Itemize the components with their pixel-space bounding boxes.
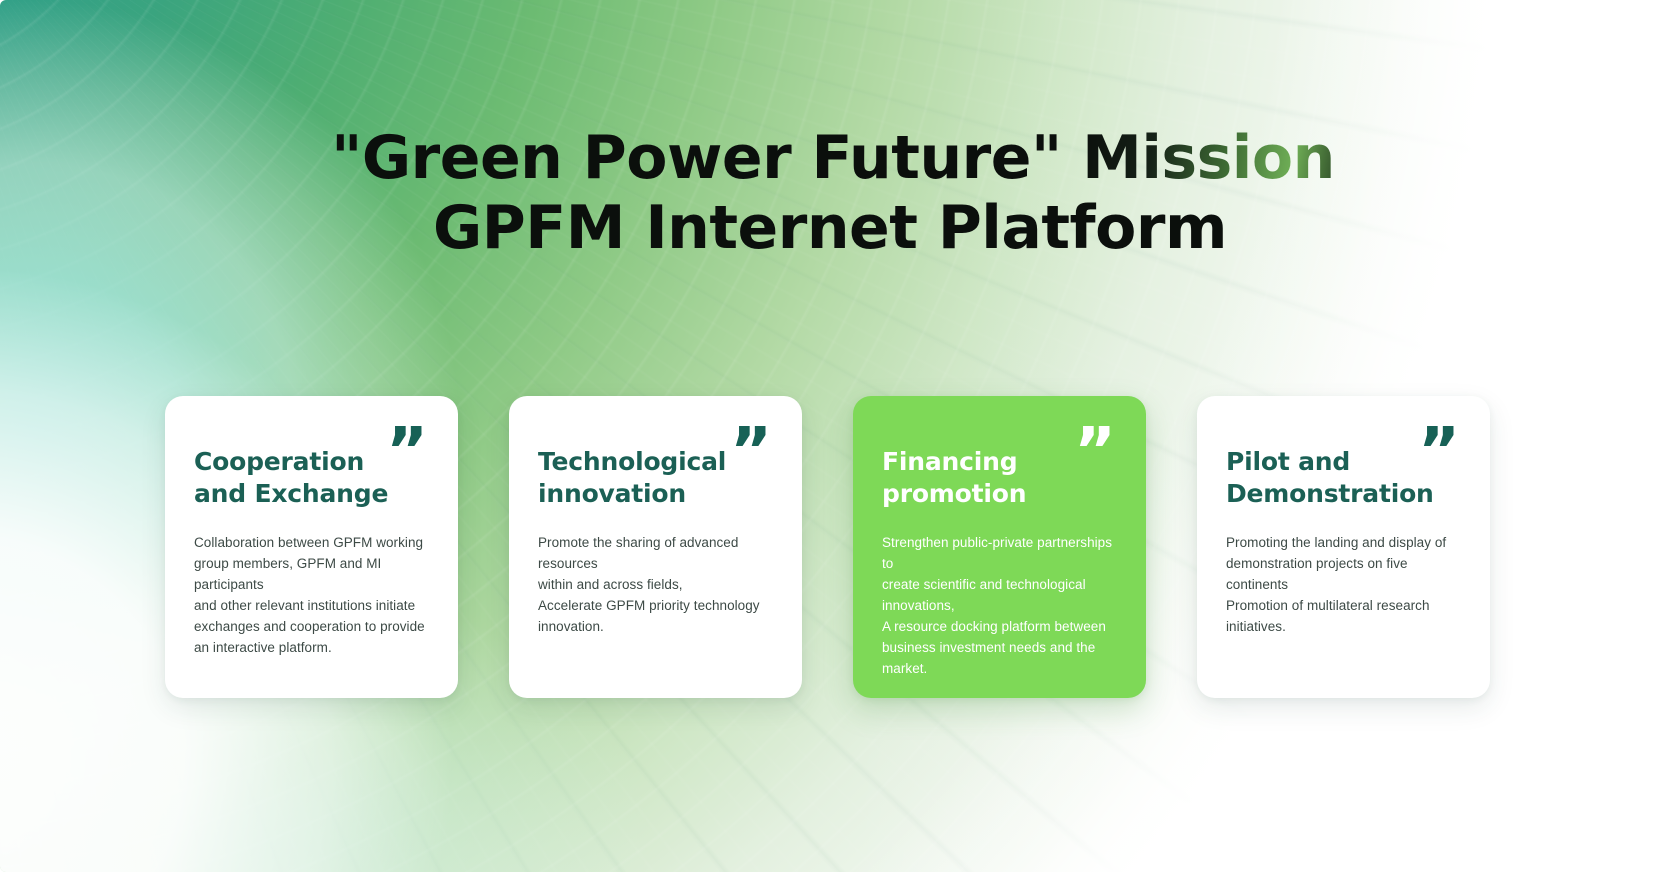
feature-card-technological-innovation[interactable]: ” Technological innovation Promote the s… [509,396,802,698]
quote-icon: ” [730,420,772,484]
quote-icon: ” [1418,420,1460,484]
slide-canvas: "Green Power Future" Mission GPFM Intern… [0,0,1660,872]
page-title-line-2: GPFM Internet Platform [0,196,1660,260]
quote-icon: ” [386,420,428,484]
feature-card-cooperation-and-exchange[interactable]: ” Cooperation and Exchange Collaboration… [165,396,458,698]
page-title-word-mission: Mission [1082,123,1335,193]
feature-card-body: Promoting the landing and display of dem… [1226,532,1462,637]
page-title: "Green Power Future" Mission GPFM Intern… [0,126,1660,260]
feature-card-pilot-and-demonstration[interactable]: ” Pilot and Demonstration Promoting the … [1197,396,1490,698]
quote-icon: ” [1074,420,1116,484]
feature-card-financing-promotion[interactable]: ” Financing promotion Strengthen public-… [853,396,1146,698]
feature-card-body: Collaboration between GPFM working group… [194,532,430,658]
feature-card-list: ” Cooperation and Exchange Collaboration… [165,396,1495,698]
feature-card-body: Promote the sharing of advanced resource… [538,532,774,637]
feature-card-body: Strengthen public-private partnerships t… [882,532,1118,679]
page-title-line-1-plain: "Green Power Future" [331,123,1082,193]
page-title-line-1: "Green Power Future" Mission [0,126,1660,190]
